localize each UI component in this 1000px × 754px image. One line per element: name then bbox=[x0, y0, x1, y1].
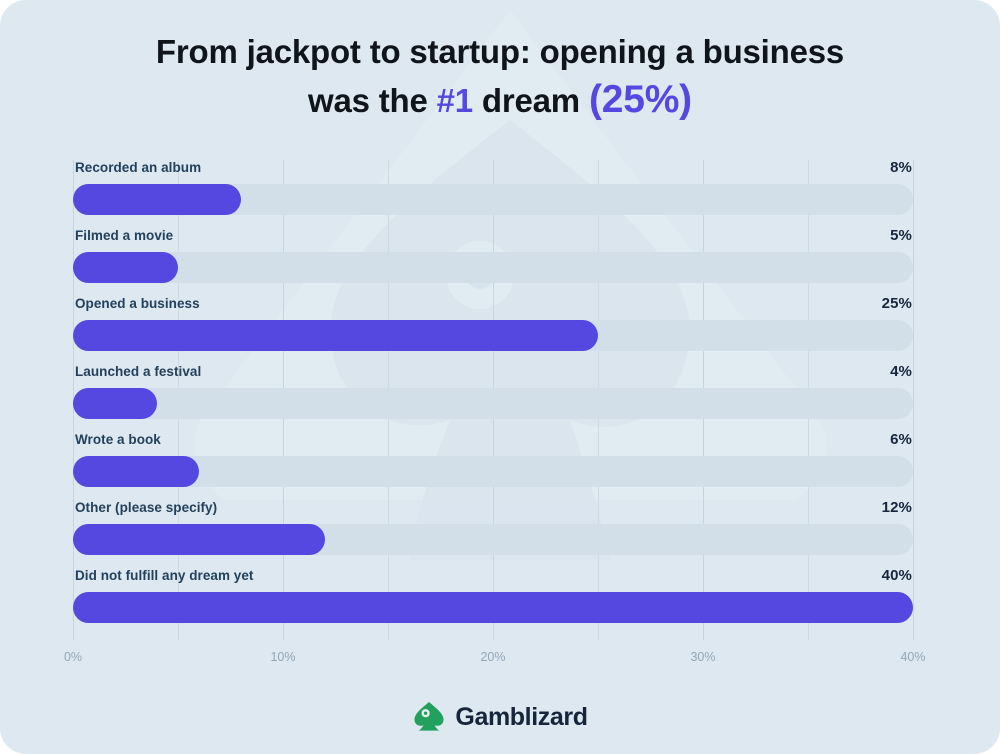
bar[interactable] bbox=[73, 456, 199, 487]
x-axis-tick-label: 20% bbox=[480, 650, 505, 664]
chart-row: Other (please specify)12% bbox=[73, 500, 913, 568]
bar-category-label: Other (please specify) bbox=[75, 500, 217, 515]
bar-category-label: Recorded an album bbox=[75, 160, 201, 175]
gridline bbox=[913, 160, 914, 640]
bar-value-label: 8% bbox=[890, 159, 912, 176]
bar-value-label: 40% bbox=[882, 567, 912, 584]
title-highlight-rank: #1 bbox=[437, 82, 473, 119]
bar-category-label: Opened a business bbox=[75, 296, 200, 311]
chart-row: Opened a business25% bbox=[73, 296, 913, 364]
x-axis-tick-label: 0% bbox=[64, 650, 82, 664]
bar-track bbox=[73, 388, 913, 419]
bar-category-label: Did not fulfill any dream yet bbox=[75, 568, 253, 583]
brand-name: Gamblizard bbox=[455, 703, 587, 732]
infographic-page: From jackpot to startup: opening a busin… bbox=[0, 0, 1000, 754]
bar-category-label: Launched a festival bbox=[75, 364, 201, 379]
chart-row: Filmed a movie5% bbox=[73, 228, 913, 296]
bar[interactable] bbox=[73, 252, 178, 283]
bar[interactable] bbox=[73, 320, 598, 351]
bar-category-label: Filmed a movie bbox=[75, 228, 173, 243]
bar-category-label: Wrote a book bbox=[75, 432, 161, 447]
bar-value-label: 12% bbox=[882, 499, 912, 516]
chart-row: Recorded an album8% bbox=[73, 160, 913, 228]
x-axis: 0%10%20%30%40% bbox=[73, 650, 913, 670]
title-highlight-percent: (25%) bbox=[589, 78, 692, 121]
title-line-1: From jackpot to startup: opening a busin… bbox=[156, 33, 844, 70]
chart-row: Launched a festival4% bbox=[73, 364, 913, 432]
bar-value-label: 4% bbox=[890, 363, 912, 380]
bar-value-label: 6% bbox=[890, 431, 912, 448]
bar[interactable] bbox=[73, 184, 241, 215]
bar-value-label: 5% bbox=[890, 227, 912, 244]
x-axis-tick-label: 40% bbox=[900, 650, 925, 664]
page-title: From jackpot to startup: opening a busin… bbox=[0, 30, 1000, 125]
x-axis-tick-label: 30% bbox=[690, 650, 715, 664]
chart-row: Did not fulfill any dream yet40% bbox=[73, 568, 913, 636]
bar-track bbox=[73, 456, 913, 487]
x-axis-tick-label: 10% bbox=[270, 650, 295, 664]
bar-value-label: 25% bbox=[882, 295, 912, 312]
bar[interactable] bbox=[73, 388, 157, 419]
bar-chart: Recorded an album8%Filmed a movie5%Opene… bbox=[73, 160, 913, 640]
title-line-2-part-2: dream bbox=[473, 82, 589, 119]
bar[interactable] bbox=[73, 524, 325, 555]
bar-track bbox=[73, 252, 913, 283]
spade-lizard-icon bbox=[412, 700, 446, 734]
title-line-2-part-1: was the bbox=[308, 82, 437, 119]
chart-row: Wrote a book6% bbox=[73, 432, 913, 500]
brand-footer: Gamblizard bbox=[0, 700, 1000, 734]
bar[interactable] bbox=[73, 592, 913, 623]
